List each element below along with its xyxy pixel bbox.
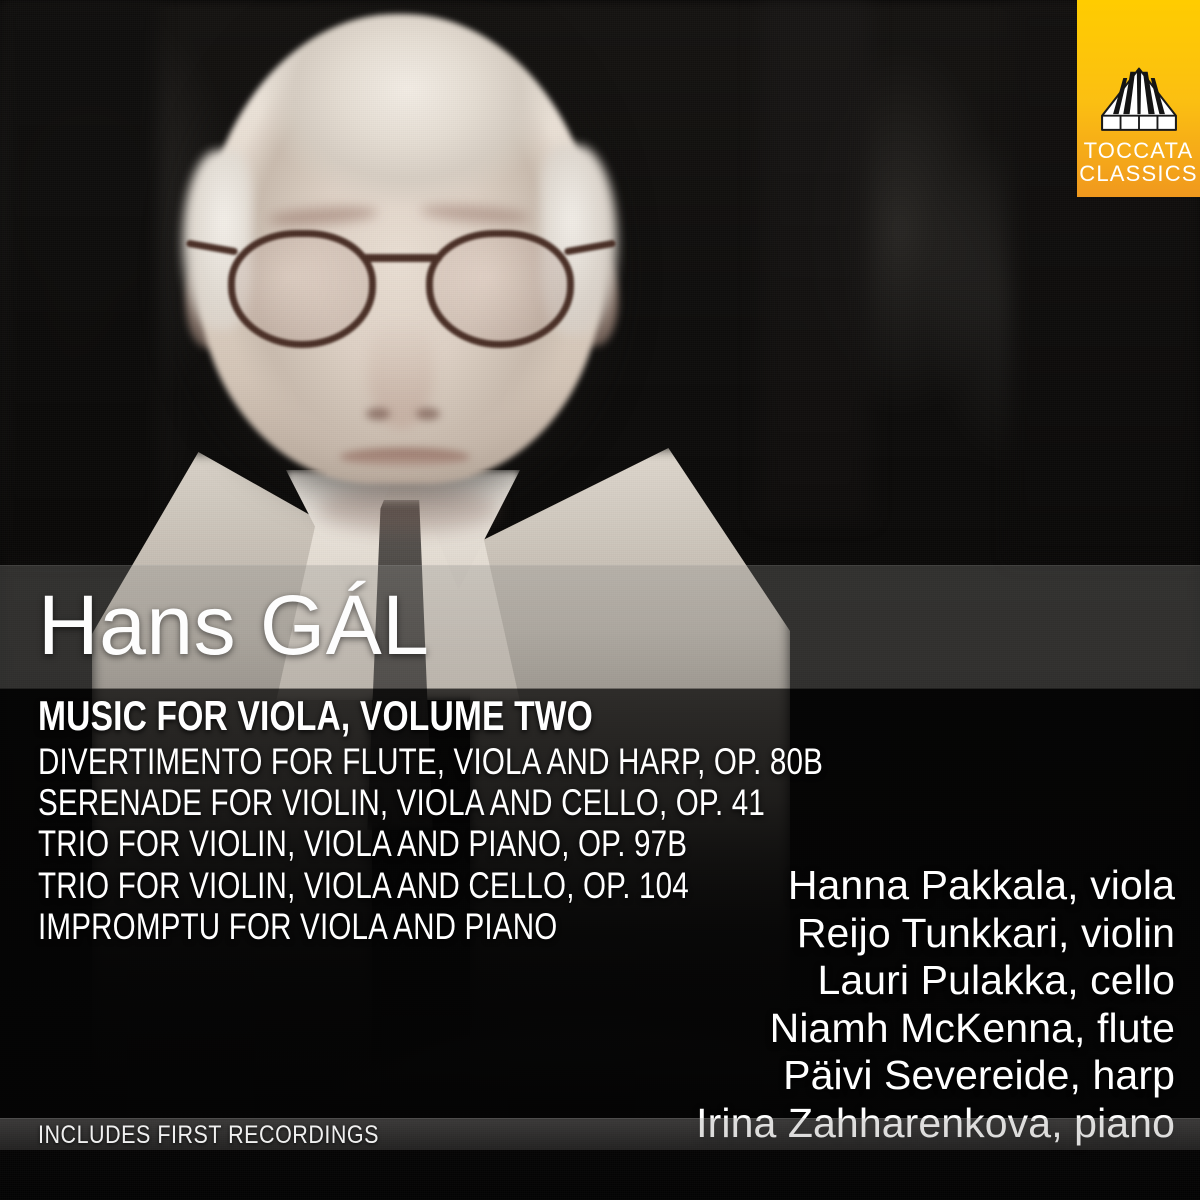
glasses-temple-left	[186, 240, 238, 256]
performer-2: Reijo Tunkkari, violin	[535, 910, 1175, 958]
background-frame-left	[0, 0, 160, 560]
glasses-temple-right	[564, 240, 616, 256]
performers-list: Hanna Pakkala, viola Reijo Tunkkari, vio…	[535, 862, 1175, 1147]
works-main-title: MUSIC FOR VIOLA, VOLUME TWO	[38, 694, 758, 739]
work-item-2: SERENADE FOR VIOLIN, VIOLA AND CELLO, OP…	[38, 782, 758, 823]
background-frame-middle	[760, 0, 870, 520]
performer-4: Niamh McKenna, flute	[535, 1005, 1175, 1053]
lens-left	[228, 230, 376, 348]
nostril-left	[366, 408, 390, 420]
glasses-bridge	[362, 254, 442, 262]
logo-wordmark: TOCCATA CLASSICS	[1079, 140, 1197, 185]
nostril-right	[416, 408, 440, 420]
lens-right	[426, 230, 574, 348]
logo-line-1: TOCCATA	[1079, 140, 1197, 162]
logo-line-2: CLASSICS	[1079, 163, 1197, 185]
chin-shadow	[318, 486, 498, 532]
mouth	[340, 448, 470, 466]
performer-5: Päivi Severeide, harp	[535, 1052, 1175, 1100]
work-item-3: TRIO FOR VIOLIN, VIOLA AND PIANO, OP. 97…	[38, 823, 758, 864]
album-cover: Hans GÁL MUSIC FOR VIOLA, VOLUME TWO DIV…	[0, 0, 1200, 1200]
performer-3: Lauri Pulakka, cello	[535, 957, 1175, 1005]
piano-keyboard-icon	[1099, 67, 1179, 133]
toccata-classics-logo: TOCCATA CLASSICS	[1077, 0, 1200, 197]
performer-1: Hanna Pakkala, viola	[535, 862, 1175, 910]
first-recordings-text: INCLUDES FIRST RECORDINGS	[38, 1121, 379, 1150]
work-item-1: DIVERTIMENTO FOR FLUTE, VIOLA AND HARP, …	[38, 741, 758, 782]
composer-name: Hans GÁL	[38, 583, 430, 667]
